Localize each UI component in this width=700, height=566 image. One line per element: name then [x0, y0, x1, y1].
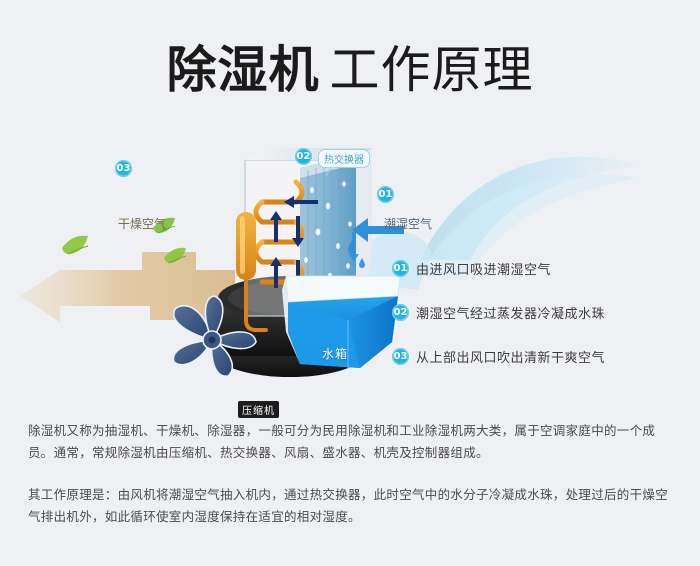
steps-list: 01 由进风口吸进潮湿空气 02 潮湿空气经过蒸发器冷凝成水珠 03 从上部出风… — [392, 256, 692, 388]
step-badge-03: 03 — [392, 348, 409, 365]
label-compressor: 压缩机 — [238, 401, 279, 418]
diagram-badge-01: 01 — [377, 186, 394, 203]
page-title-secondary: 工作原理 — [330, 41, 534, 99]
step-item-02: 02 潮湿空气经过蒸发器冷凝成水珠 — [392, 300, 692, 324]
label-humid-air: 潮湿空气 — [384, 215, 432, 232]
label-water-tank: 水箱 — [322, 345, 348, 362]
dehumidifier-infographic-page: { "page": { "background_color": "#eff0f4… — [0, 0, 700, 566]
step-item-03: 03 从上部出风口吹出清新干爽空气 — [392, 344, 692, 368]
description-block: 除湿机又称为抽湿机、干燥机、除湿器，一般可分为民用除湿机和工业除湿机两大类，属于… — [28, 420, 678, 528]
label-heat-exchanger: 热交换器 — [318, 149, 370, 168]
step-badge-01: 01 — [392, 260, 409, 277]
description-paragraph-2: 其工作原理是：由风机将潮湿空气抽入机内，通过热交换器，此时空气中的水分子冷凝成水… — [28, 484, 678, 528]
step-label-02: 潮湿空气经过蒸发器冷凝成水珠 — [416, 303, 605, 322]
dry-air-flow — [20, 252, 235, 322]
step-label-03: 从上部出风口吹出清新干爽空气 — [416, 347, 605, 366]
step-item-01: 01 由进风口吸进潮湿空气 — [392, 256, 692, 280]
step-label-01: 由进风口吸进潮湿空气 — [416, 259, 551, 278]
evaporator-coil — [300, 154, 356, 296]
diagram-badge-02: 02 — [295, 148, 312, 165]
description-paragraph-1: 除湿机又称为抽湿机、干燥机、除湿器，一般可分为民用除湿机和工业除湿机两大类，属于… — [28, 420, 678, 464]
label-dry-air: 干燥空气 — [118, 215, 166, 232]
diagram-badge-03: 03 — [115, 160, 132, 177]
step-badge-02: 02 — [392, 304, 409, 321]
page-title-primary: 除湿机 — [167, 41, 320, 99]
page-title: 除湿机工作原理 — [0, 30, 700, 102]
